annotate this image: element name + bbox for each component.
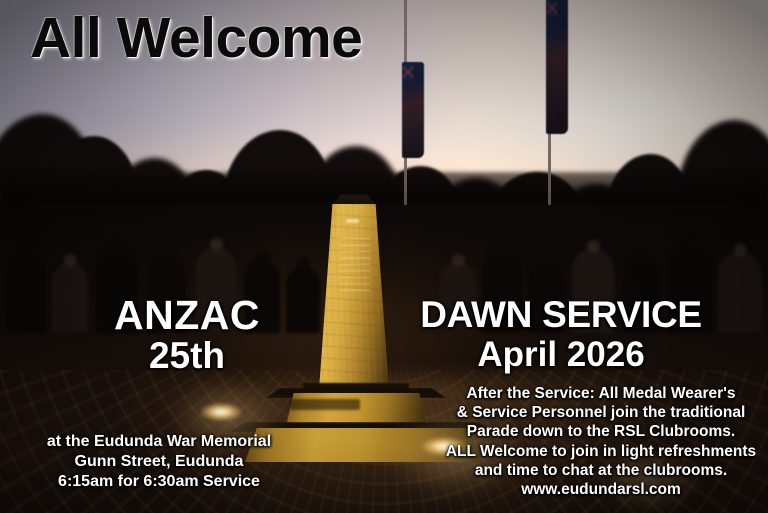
after-service-details-block: After the Service: All Medal Wearer's & … xyxy=(436,384,766,499)
after-service-line-1: After the Service: All Medal Wearer's xyxy=(436,384,766,403)
dawn-service-label: DAWN SERVICE xyxy=(394,294,728,336)
after-service-line-2: & Service Personnel join the traditional xyxy=(436,403,766,422)
australian-flag-right xyxy=(546,0,568,134)
venue-line-1: at the Eudunda War Memorial xyxy=(8,432,310,452)
anzac-dawn-service-poster: All Welcome ANZAC 25th DAWN SERVICE Apri… xyxy=(0,0,768,513)
after-service-line-5: and time to chat at the clubrooms. xyxy=(436,461,766,480)
venue-line-3: 6:15am for 6:30am Service xyxy=(8,472,310,492)
after-service-line-3: Parade down to the RSL Clubrooms. xyxy=(436,422,766,441)
venue-details-block: at the Eudunda War Memorial Gunn Street,… xyxy=(8,432,310,492)
event-month-year: April 2026 xyxy=(394,336,728,374)
anzac-label: ANZAC xyxy=(0,294,374,336)
venue-line-2: Gunn Street, Eudunda xyxy=(8,452,310,472)
base-step-upper-recess xyxy=(290,399,360,410)
dawn-service-block: DAWN SERVICE April 2026 xyxy=(394,294,728,374)
ground-uplight-left xyxy=(200,403,242,421)
obelisk-badge xyxy=(346,219,359,223)
australian-flag-left xyxy=(402,62,424,158)
event-day: 25th xyxy=(0,336,374,376)
after-service-line-4: ALL Welcome to join in light refreshment… xyxy=(436,442,766,461)
obelisk-inscription xyxy=(340,238,370,294)
website-url[interactable]: www.eudundarsl.com xyxy=(436,480,766,499)
anzac-date-block: ANZAC 25th xyxy=(0,294,374,376)
page-title-all-welcome: All Welcome xyxy=(30,10,362,67)
